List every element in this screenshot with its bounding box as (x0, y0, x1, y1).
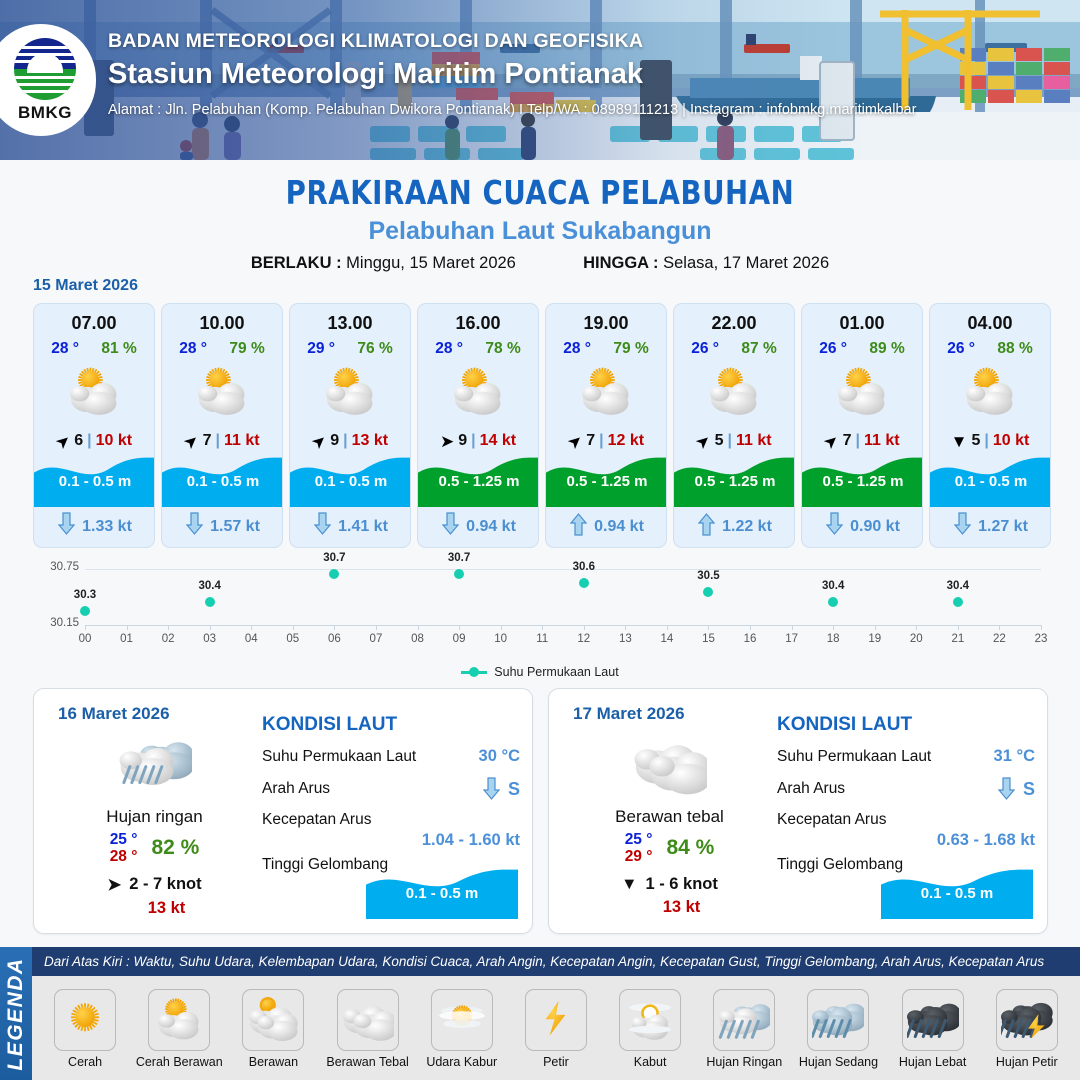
card-time: 10.00 (162, 313, 282, 334)
hourly-card: 16.00 28 ° 78 % ➤ 9 | 14 kt 0.5 - 1.25 m… (417, 303, 539, 548)
berlaku-value: Minggu, 15 Maret 2026 (346, 254, 516, 272)
temperature-min: 25 ° (625, 831, 653, 848)
cerah-berawan-icon (162, 362, 282, 424)
legend-item: Cerah (41, 989, 129, 1069)
wind-direction-arrow-icon: ➤ (824, 433, 838, 450)
current-speed: 0.94 kt (466, 518, 516, 536)
legend-marker (461, 671, 487, 674)
card-temperature: 26 ° (947, 340, 975, 358)
data-point (80, 606, 90, 616)
berlaku-label: BERLAKU : (251, 254, 342, 272)
cerah-berawan-icon (290, 362, 410, 424)
card-temperature: 28 ° (563, 340, 591, 358)
wind-direction-arrow-icon: ➤ (696, 433, 710, 450)
wind-speed-range: 1 - 6 knot (645, 875, 717, 894)
sst-label: Suhu Permukaan Laut (262, 748, 416, 766)
daily-forecast-panel: 16 Maret 2026 Hujan ringan 25 ° 28 ° 82 … (33, 688, 533, 934)
legend-item-label: Kabut (634, 1055, 667, 1069)
x-tick-label: 01 (120, 633, 133, 645)
data-point-label: 30.4 (947, 580, 969, 592)
card-time: 16.00 (418, 313, 538, 334)
x-tick-label: 04 (245, 633, 258, 645)
y-tick-label: 30.15 (33, 617, 79, 629)
hujan-ringan-icon (713, 989, 775, 1051)
x-tick-label: 13 (619, 633, 632, 645)
hourly-card: 01.00 26 ° 89 % ➤ 7 | 11 kt 0.5 - 1.25 m… (801, 303, 923, 548)
separator: | (471, 432, 475, 450)
card-temperature: 28 ° (179, 340, 207, 358)
x-tick-label: 15 (702, 633, 715, 645)
temperature-max: 28 ° (110, 848, 138, 865)
current-direction-arrow-icon (442, 512, 459, 541)
data-point (579, 578, 589, 588)
wave-height: 0.1 - 0.5 m (34, 455, 155, 507)
data-point (329, 569, 339, 579)
y-tick-label: 30.75 (33, 561, 79, 573)
wave-height: 0.1 - 0.5 m (290, 455, 411, 507)
hourly-forecast-row: 07.00 28 ° 81 % ➤ 6 | 10 kt 0.1 - 0.5 m … (33, 303, 1051, 548)
data-point-label: 30.5 (697, 570, 719, 582)
legend-icon-row: Cerah Cerah Berawan Berawan Berawan Teba… (32, 976, 1080, 1080)
humidity: 82 % (151, 836, 199, 860)
wind-direction-arrow-icon: ➤ (440, 433, 454, 450)
legend-item-label: Petir (543, 1055, 569, 1069)
legend-item-label: Udara Kabur (426, 1055, 497, 1069)
legend-item: Udara Kabur (418, 989, 506, 1069)
current-speed-label: Kecepatan Arus (777, 811, 886, 829)
x-tick-label: 07 (370, 633, 383, 645)
wave-height: 0.1 - 0.5 m (162, 455, 283, 507)
daily-forecast-panel: 17 Maret 2026 Berawan tebal 25 ° 29 ° 84… (548, 688, 1048, 934)
card-humidity: 87 % (741, 340, 776, 358)
x-tick-label: 12 (577, 633, 590, 645)
data-point-label: 30.3 (74, 589, 96, 601)
legend-item: Berawan Tebal (324, 989, 412, 1069)
petir-icon (525, 989, 587, 1051)
wind-speed: 5 (715, 432, 724, 450)
hujan-petir-icon (996, 989, 1058, 1051)
wave-height: 0.5 - 1.25 m (802, 455, 923, 507)
gust-speed: 11 kt (736, 432, 772, 450)
data-point (828, 597, 838, 607)
card-temperature: 26 ° (819, 340, 847, 358)
legend-item-label: Hujan Ringan (706, 1055, 782, 1069)
gust-speed: 11 kt (864, 432, 900, 450)
data-point (703, 587, 713, 597)
current-speed: 0.94 kt (594, 518, 644, 536)
gust-speed: 10 kt (96, 432, 132, 450)
weather-condition: Berawan tebal (567, 807, 772, 827)
data-point (454, 569, 464, 579)
title-block: PRAKIRAAN CUACA PELABUHAN Pelabuhan Laut… (0, 173, 1080, 273)
card-temperature: 29 ° (307, 340, 335, 358)
legend-item: Hujan Ringan (700, 989, 788, 1069)
card-humidity: 81 % (101, 340, 136, 358)
cerah-berawan-icon (34, 362, 154, 424)
current-direction-label: Arah Arus (777, 780, 845, 798)
contact-line: Alamat : Jln. Pelabuhan (Komp. Pelabuhan… (108, 102, 916, 118)
x-tick-label: 00 (79, 633, 92, 645)
separator: | (856, 432, 860, 450)
card-humidity: 79 % (613, 340, 648, 358)
current-speed: 0.90 kt (850, 518, 900, 536)
legend-item-label: Berawan (249, 1055, 298, 1069)
current-direction-value: S (508, 779, 520, 800)
x-tick-label: 21 (951, 633, 964, 645)
card-time: 01.00 (802, 313, 922, 334)
hujan-ringan-icon (52, 729, 257, 801)
card-time: 22.00 (674, 313, 794, 334)
panel-date: 17 Maret 2026 (573, 704, 685, 724)
wave-height: 0.5 - 1.25 m (418, 455, 539, 507)
hourly-card: 22.00 26 ° 87 % ➤ 5 | 11 kt 0.5 - 1.25 m… (673, 303, 795, 548)
hourly-card: 10.00 28 ° 79 % ➤ 7 | 11 kt 0.1 - 0.5 m … (161, 303, 283, 548)
separator: | (728, 432, 732, 450)
temperature-min: 25 ° (110, 831, 138, 848)
legend-item-label: Hujan Lebat (899, 1055, 966, 1069)
separator: | (599, 432, 603, 450)
wind-direction-arrow-icon: ➤ (568, 433, 582, 450)
legend-item-label: Hujan Petir (996, 1055, 1058, 1069)
x-tick-label: 20 (910, 633, 923, 645)
x-tick-label: 14 (661, 633, 674, 645)
gust-speed: 12 kt (608, 432, 644, 450)
data-point (953, 597, 963, 607)
hourly-card: 07.00 28 ° 81 % ➤ 6 | 10 kt 0.1 - 0.5 m … (33, 303, 155, 548)
sst-value: 30 °C (479, 747, 520, 766)
legend-note-bar: Dari Atas Kiri : Waktu, Suhu Udara, Kele… (32, 947, 1080, 976)
x-tick-label: 05 (286, 633, 299, 645)
current-direction-arrow-icon (58, 512, 75, 541)
sea-condition-title: KONDISI LAUT (262, 714, 520, 736)
hourly-card: 19.00 28 ° 79 % ➤ 7 | 12 kt 0.5 - 1.25 m… (545, 303, 667, 548)
legend-item: Hujan Sedang (794, 989, 882, 1069)
cerah-berawan-icon (802, 362, 922, 424)
sst-label: Suhu Permukaan Laut (777, 748, 931, 766)
page-header: BMKG BADAN METEOROLOGI KLIMATOLOGI DAN G… (0, 0, 1080, 160)
x-tick-label: 22 (993, 633, 1006, 645)
current-speed: 1.41 kt (338, 518, 388, 536)
legend-side-label: LEGENDA (4, 957, 28, 1070)
wind-speed: 7 (203, 432, 212, 450)
card-humidity: 76 % (357, 340, 392, 358)
legend-item-label: Hujan Sedang (799, 1055, 878, 1069)
legend-item: Kabut (606, 989, 694, 1069)
page-title: PRAKIRAAN CUACA PELABUHAN (38, 173, 1042, 212)
data-point (205, 597, 215, 607)
current-direction-arrow-icon (186, 512, 203, 541)
validity-range: BERLAKU : Minggu, 15 Maret 2026 HINGGA :… (0, 254, 1080, 273)
legend-footer: LEGENDA Dari Atas Kiri : Waktu, Suhu Uda… (0, 947, 1080, 1080)
wind-direction-arrow-icon: ➤ (184, 433, 198, 450)
separator: | (216, 432, 220, 450)
x-tick-label: 11 (536, 633, 548, 645)
data-point-label: 30.7 (323, 552, 345, 564)
cerah-berawan-icon (148, 989, 210, 1051)
wind-direction-arrow-icon: ➤ (56, 433, 70, 450)
berawan-icon (242, 989, 304, 1051)
gust-speed: 13 kt (352, 432, 388, 450)
wind-direction-arrow-icon: ➤ (312, 433, 326, 450)
cerah-berawan-icon (674, 362, 794, 424)
card-temperature: 28 ° (435, 340, 463, 358)
x-tick-label: 16 (744, 633, 757, 645)
card-temperature: 26 ° (691, 340, 719, 358)
legend-side-title: LEGENDA (0, 947, 32, 1080)
gust-speed: 10 kt (993, 432, 1029, 450)
wave-height-value: 0.1 - 0.5 m (366, 867, 518, 919)
temperature-max: 29 ° (625, 848, 653, 865)
legend-item-label: Berawan Tebal (326, 1055, 408, 1069)
card-time: 04.00 (930, 313, 1050, 334)
x-tick-label: 06 (328, 633, 341, 645)
current-direction-arrow-icon (698, 512, 715, 541)
x-tick-label: 08 (411, 633, 424, 645)
udara-kabur-icon (431, 989, 493, 1051)
wind-speed: 7 (843, 432, 852, 450)
gust-speed: 11 kt (224, 432, 260, 450)
data-point-label: 30.7 (448, 552, 470, 564)
hourly-card: 13.00 29 ° 76 % ➤ 9 | 13 kt 0.1 - 0.5 m … (289, 303, 411, 548)
legend-item-label: Cerah (68, 1055, 102, 1069)
sea-condition-title: KONDISI LAUT (777, 714, 1035, 736)
card-time: 19.00 (546, 313, 666, 334)
sst-chart: 30.7530.15000102030405060708091011121314… (33, 557, 1047, 682)
current-direction-label: Arah Arus (262, 780, 330, 798)
card-time: 07.00 (34, 313, 154, 334)
current-speed: 1.57 kt (210, 518, 260, 536)
current-speed: 1.27 kt (978, 518, 1028, 536)
bmkg-logo-mark (14, 38, 76, 100)
humidity: 84 % (666, 836, 714, 860)
wind-direction-arrow-icon: ▼ (951, 433, 968, 450)
current-direction-arrow-icon (570, 512, 587, 541)
wind-speed-range: 2 - 7 knot (129, 875, 201, 894)
agency-name: BADAN METEOROLOGI KLIMATOLOGI DAN GEOFIS… (108, 30, 916, 53)
current-direction-arrow-icon (954, 512, 971, 541)
berawan-tebal-icon (337, 989, 399, 1051)
current-speed-value: 0.63 - 1.68 kt (777, 831, 1035, 850)
separator: | (984, 432, 988, 450)
separator: | (343, 432, 347, 450)
wind-speed: 6 (74, 432, 83, 450)
legend-item: Cerah Berawan (135, 989, 223, 1069)
legend-item: Berawan (229, 989, 317, 1069)
x-tick-label: 10 (494, 633, 507, 645)
card-humidity: 88 % (997, 340, 1032, 358)
current-speed-value: 1.04 - 1.60 kt (262, 831, 520, 850)
data-point-label: 30.4 (822, 580, 844, 592)
hourly-card: 04.00 26 ° 88 % ▼ 5 | 10 kt 0.1 - 0.5 m … (929, 303, 1051, 548)
gust-speed: 13 kt (591, 898, 772, 917)
x-tick-label: 23 (1035, 633, 1048, 645)
legend-item: Petir (512, 989, 600, 1069)
hourly-date-label: 15 Maret 2026 (33, 277, 138, 295)
hingga-value: Selasa, 17 Maret 2026 (663, 254, 829, 272)
sst-value: 31 °C (994, 747, 1035, 766)
page-subtitle: Pelabuhan Laut Sukabangun (0, 217, 1080, 246)
wave-height: 0.5 - 1.25 m (674, 455, 795, 507)
daily-panels: 16 Maret 2026 Hujan ringan 25 ° 28 ° 82 … (33, 688, 1048, 934)
wind-direction-arrow-icon: ▼ (621, 875, 637, 894)
x-tick-label: 19 (868, 633, 881, 645)
wave-height: 0.1 - 0.5 m (930, 455, 1051, 507)
panel-date: 16 Maret 2026 (58, 704, 170, 724)
station-name: Stasiun Meteorologi Maritim Pontianak (108, 58, 916, 91)
gust-speed: 14 kt (480, 432, 516, 450)
current-direction-value: S (1023, 779, 1035, 800)
current-direction-arrow-icon (314, 512, 331, 541)
x-tick-label: 09 (453, 633, 466, 645)
data-point-label: 30.4 (198, 580, 220, 592)
cerah-berawan-icon (930, 362, 1050, 424)
wind-speed: 7 (586, 432, 595, 450)
wave-height: 0.5 - 1.25 m (546, 455, 667, 507)
current-speed-label: Kecepatan Arus (262, 811, 371, 829)
gust-speed: 13 kt (76, 899, 257, 918)
wave-height-value: 0.1 - 0.5 m (881, 867, 1033, 919)
legend-item-label: Cerah Berawan (136, 1055, 223, 1069)
card-humidity: 78 % (485, 340, 520, 358)
x-tick-label: 18 (827, 633, 840, 645)
wind-speed: 9 (458, 432, 467, 450)
kabut-icon (619, 989, 681, 1051)
weather-condition: Hujan ringan (52, 807, 257, 827)
x-tick-label: 02 (162, 633, 175, 645)
legend-item: Hujan Lebat (889, 989, 977, 1069)
cerah-icon (54, 989, 116, 1051)
bmkg-logo-text: BMKG (18, 103, 72, 123)
card-temperature: 28 ° (51, 340, 79, 358)
berawan-tebal-icon (567, 729, 772, 801)
cerah-berawan-icon (418, 362, 538, 424)
wind-speed: 5 (971, 432, 980, 450)
current-speed: 1.22 kt (722, 518, 772, 536)
x-tick-label: 17 (785, 633, 798, 645)
hingga-label: HINGGA : (583, 254, 658, 272)
hujan-sedang-icon (807, 989, 869, 1051)
current-direction-arrow-icon (826, 512, 843, 541)
wind-direction-arrow-icon: ➤ (107, 875, 121, 895)
card-time: 13.00 (290, 313, 410, 334)
hujan-lebat-icon (902, 989, 964, 1051)
card-humidity: 89 % (869, 340, 904, 358)
legend-label: Suhu Permukaan Laut (494, 665, 618, 679)
card-humidity: 79 % (229, 340, 264, 358)
legend-item: Hujan Petir (983, 989, 1071, 1069)
data-point-label: 30.6 (573, 561, 595, 573)
wind-speed: 9 (330, 432, 339, 450)
cerah-berawan-icon (546, 362, 666, 424)
separator: | (87, 432, 91, 450)
current-speed: 1.33 kt (82, 518, 132, 536)
x-tick-label: 03 (203, 633, 216, 645)
legend-note: Dari Atas Kiri : Waktu, Suhu Udara, Kele… (44, 954, 1044, 969)
